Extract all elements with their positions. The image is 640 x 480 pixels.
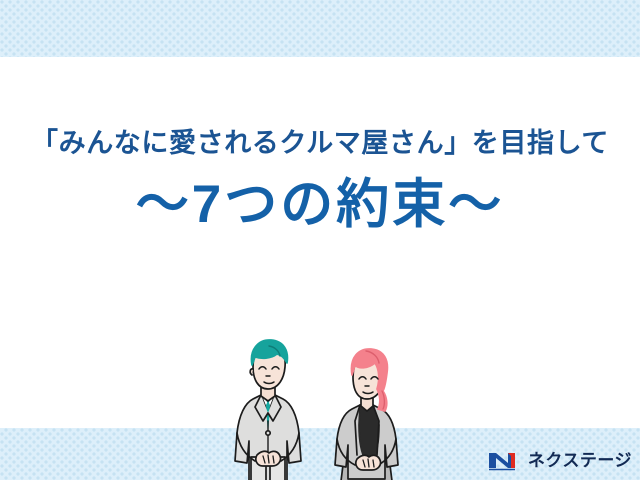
headline-main-text: 「みんなに愛されるクルマ屋さん」を目指して [0, 57, 640, 159]
nexstage-n-logo-icon [488, 448, 522, 472]
headline-block: 「みんなに愛されるクルマ屋さん」を目指して 〜7つの約束〜 [0, 57, 640, 232]
headline-sub-text: 〜7つの約束〜 [0, 159, 640, 233]
white-content-panel: 「みんなに愛されるクルマ屋さん」を目指して 〜7つの約束〜 [0, 57, 640, 428]
nexstage-logo: ネクステージ [488, 448, 632, 472]
two-bowing-staff-illustration [225, 329, 415, 480]
promotion-banner: 「みんなに愛されるクルマ屋さん」を目指して 〜7つの約束〜 [0, 0, 640, 480]
nexstage-logo-text: ネクステージ [528, 452, 632, 469]
